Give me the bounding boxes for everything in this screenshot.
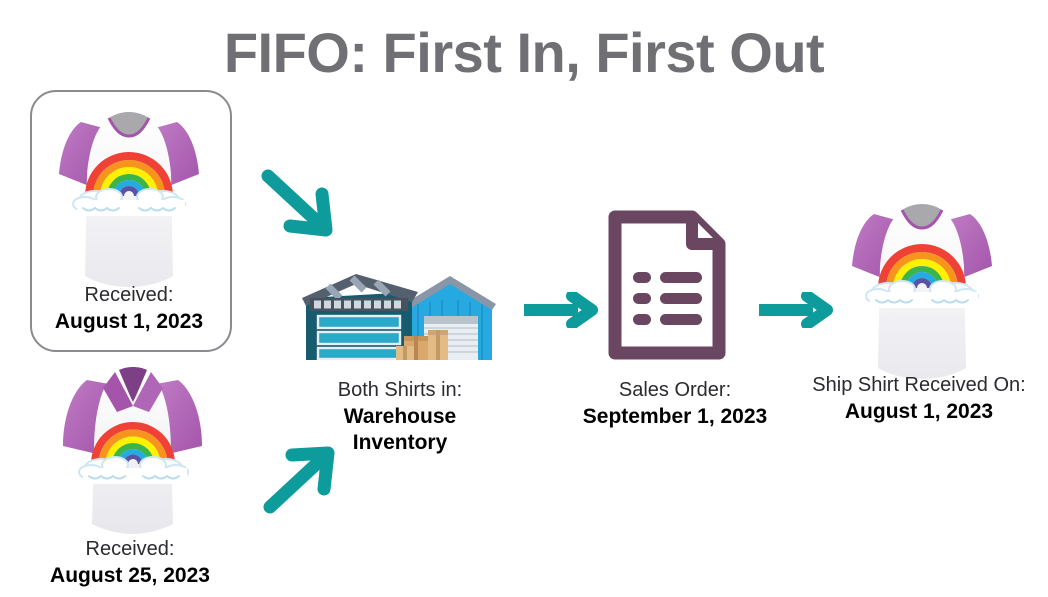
caption-value: August 1, 2023 <box>30 309 228 336</box>
page-title: FIFO: First In, First Out <box>0 24 1048 83</box>
caption-shipped-shirt: Ship Shirt Received On: August 1, 2023 <box>790 373 1048 425</box>
caption-lead: Sales Order: <box>560 378 790 404</box>
arrow-warehouse-to-sales-order <box>522 292 600 328</box>
diagram-canvas: FIFO: First In, First Out <box>0 0 1048 597</box>
caption-lead: Received: <box>20 537 240 563</box>
caption-warehouse: Both Shirts in: Warehouse Inventory <box>300 378 500 457</box>
polo-shirt-rainbow-icon <box>55 358 210 538</box>
caption-value-line1: Warehouse <box>300 404 500 431</box>
caption-value: September 1, 2023 <box>560 404 790 431</box>
arrow-first-shirt-to-warehouse <box>260 168 340 240</box>
caption-first-shirt: Received: August 1, 2023 <box>30 283 228 335</box>
caption-lead: Received: <box>30 283 228 309</box>
tshirt-rainbow-icon <box>55 100 203 290</box>
caption-value: August 1, 2023 <box>790 399 1048 426</box>
tshirt-rainbow-icon-shipped <box>848 192 996 382</box>
caption-lead: Ship Shirt Received On: <box>790 373 1048 399</box>
caption-lead: Both Shirts in: <box>300 378 500 404</box>
arrow-sales-order-to-shipped-shirt <box>757 292 835 328</box>
warehouse-icon <box>300 272 500 368</box>
caption-value: August 25, 2023 <box>20 563 240 590</box>
caption-value-line2: Inventory <box>300 430 500 457</box>
document-list-icon <box>608 210 726 360</box>
caption-second-shirt: Received: August 25, 2023 <box>20 537 240 589</box>
caption-sales-order: Sales Order: September 1, 2023 <box>560 378 790 430</box>
